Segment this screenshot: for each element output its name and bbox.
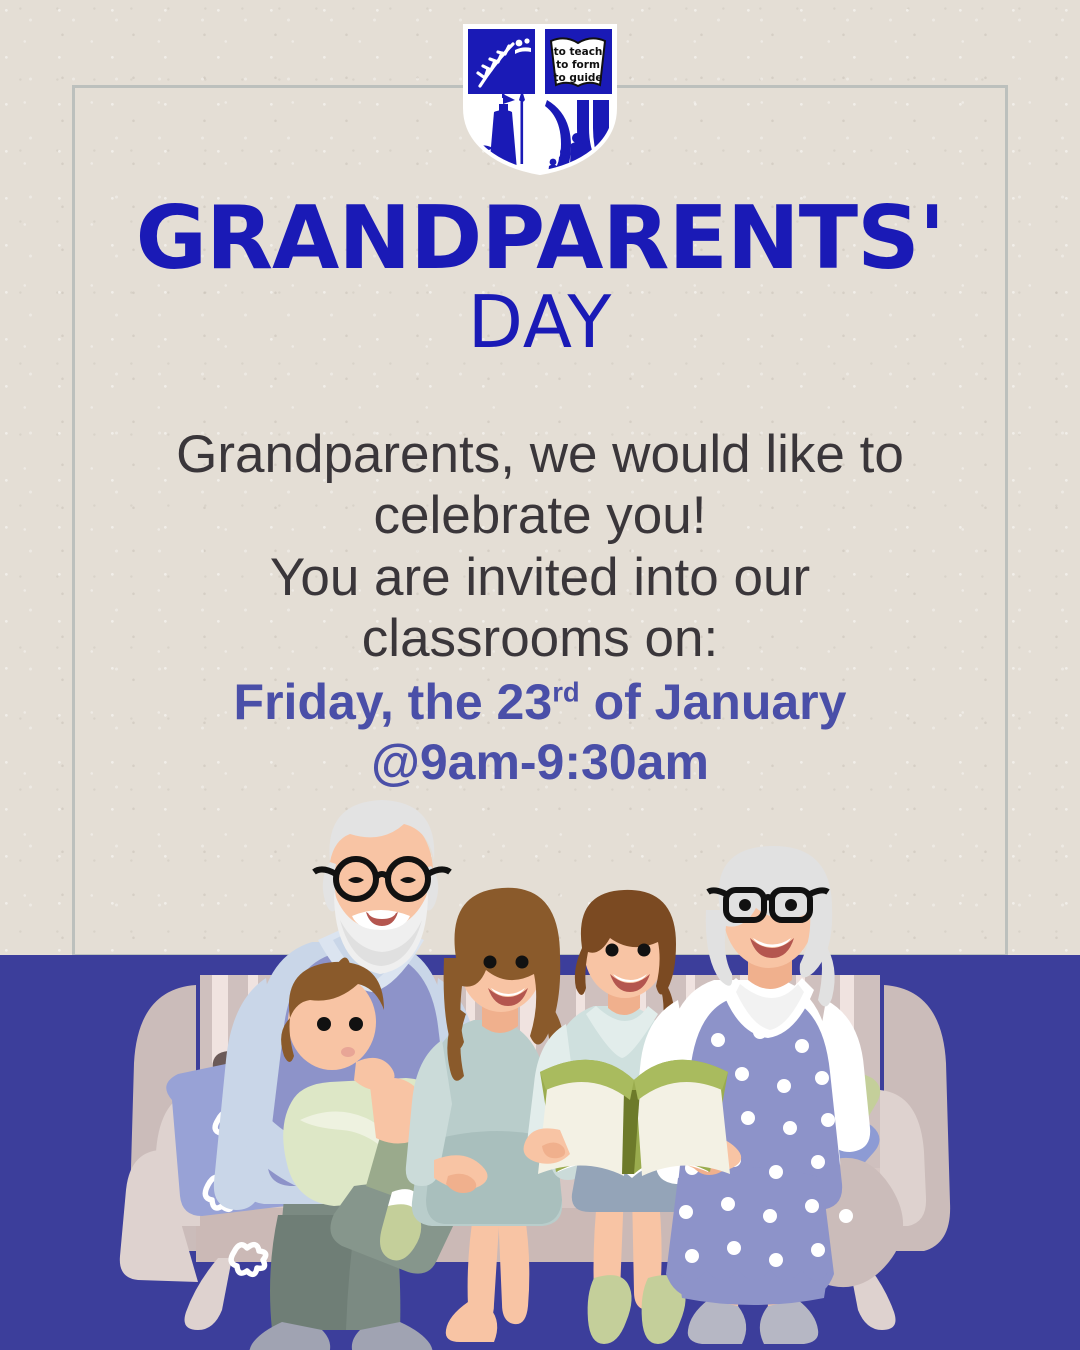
poster-canvas: to teach to form to guide	[0, 0, 1080, 1350]
family-illustration	[0, 0, 1080, 1350]
